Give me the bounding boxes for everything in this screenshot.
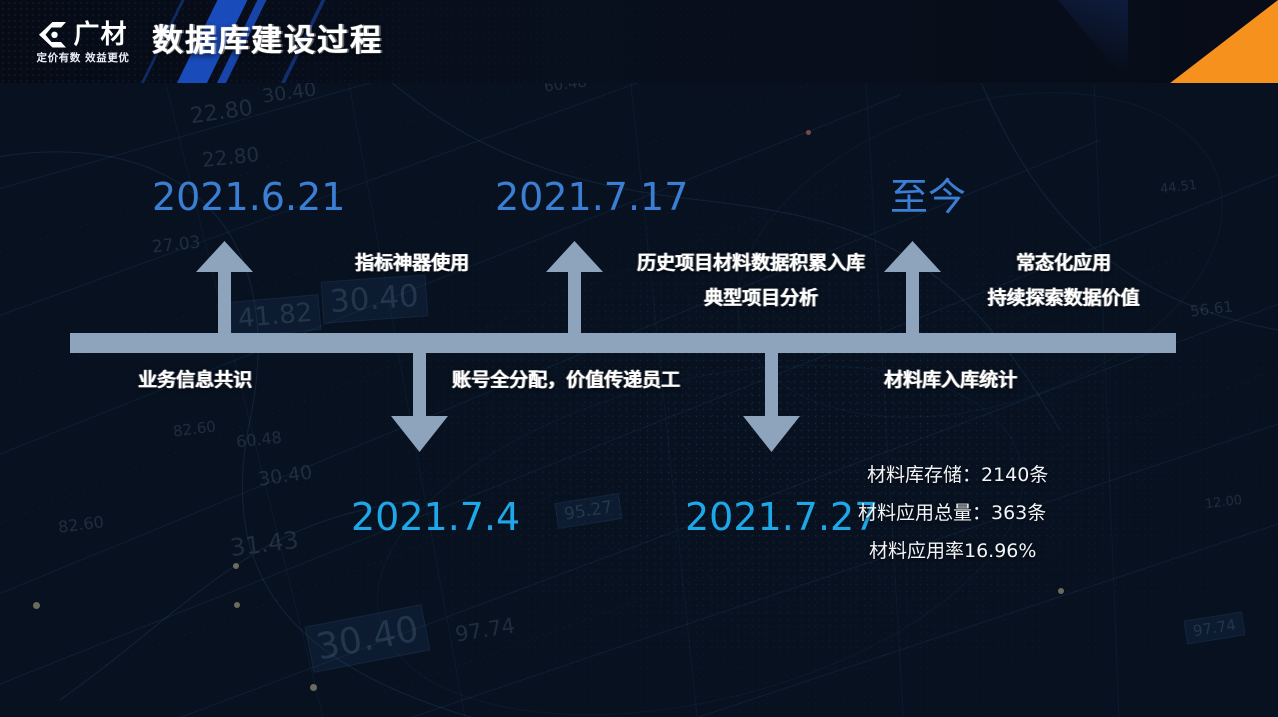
background-node-dot bbox=[33, 602, 40, 609]
background-node-dot bbox=[233, 563, 239, 569]
timeline-down-arrow-1 bbox=[391, 333, 448, 452]
background-number: 82.60 bbox=[172, 417, 217, 440]
date-bottom-1: 2021.7.4 bbox=[351, 498, 520, 536]
background-node-dot bbox=[806, 130, 811, 135]
label-above-2-line2: 典型项目分析 bbox=[637, 281, 885, 315]
slide-root: 30.40 41.82 22.80 22.80 27.03 97.74 82.6… bbox=[0, 0, 1278, 717]
background-number: 60.48 bbox=[235, 428, 283, 452]
background-number: 27.03 bbox=[151, 233, 201, 258]
label-above-3-line1: 常态化应用 bbox=[960, 246, 1167, 280]
background-number: 41.82 bbox=[229, 294, 322, 338]
date-top-2: 2021.7.17 bbox=[495, 178, 688, 216]
timeline-up-arrow-2 bbox=[546, 241, 603, 353]
label-above-3-line2: 持续探索数据价值 bbox=[960, 281, 1167, 315]
background-number: 12.00 bbox=[1204, 493, 1243, 512]
stat-applied-rate: 材料应用率16.96% bbox=[869, 536, 1036, 567]
background-number: 31.43 bbox=[229, 526, 301, 562]
background-number: 30.40 bbox=[305, 604, 431, 673]
stat-storage: 材料库存储：2140条 bbox=[867, 460, 1048, 491]
logo-tagline: 定价有数 效益更优 bbox=[36, 53, 129, 64]
date-bottom-2: 2021.7.27 bbox=[685, 498, 878, 536]
label-below-1: 业务信息共识 bbox=[138, 363, 252, 397]
brand-logo[interactable]: 广材 定价有数 效益更优 bbox=[22, 14, 144, 70]
label-below-2: 账号全分配，价值传递员工 bbox=[452, 363, 680, 397]
label-above-1: 指标神器使用 bbox=[355, 246, 469, 280]
background-number: 22.80 bbox=[189, 96, 255, 130]
label-above-2-line1: 历史项目材料数据积累入库 bbox=[637, 246, 865, 280]
background-number: 44.51 bbox=[1159, 178, 1198, 197]
slide-header: 广材 定价有数 效益更优 数据库建设过程 bbox=[0, 0, 1278, 83]
background-node-dot bbox=[234, 602, 240, 608]
label-below-3: 材料库入库统计 bbox=[884, 363, 1017, 397]
date-top-1: 2021.6.21 bbox=[152, 178, 345, 216]
background-number: 30.40 bbox=[257, 461, 314, 490]
timeline-up-arrow-3 bbox=[884, 241, 941, 353]
background-number: 97.74 bbox=[453, 613, 516, 646]
page-title: 数据库建设过程 bbox=[152, 22, 383, 61]
logo-name: 广材 bbox=[73, 22, 127, 48]
background-number: 82.60 bbox=[57, 512, 105, 536]
background-number: 95.27 bbox=[554, 493, 622, 529]
brand-mark-icon bbox=[38, 21, 68, 49]
logo-top-row: 广材 bbox=[38, 21, 127, 49]
timeline-down-arrow-2 bbox=[743, 333, 800, 452]
background-number: 56.61 bbox=[1189, 297, 1234, 320]
background-number: 22.80 bbox=[201, 142, 260, 172]
background-node-dot bbox=[1058, 588, 1064, 594]
background-number: 97.74 bbox=[1183, 612, 1245, 645]
stat-applied-total: 材料应用总量：363条 bbox=[858, 498, 1046, 529]
background-node-dot bbox=[310, 684, 317, 691]
date-top-3: 至今 bbox=[890, 178, 966, 216]
